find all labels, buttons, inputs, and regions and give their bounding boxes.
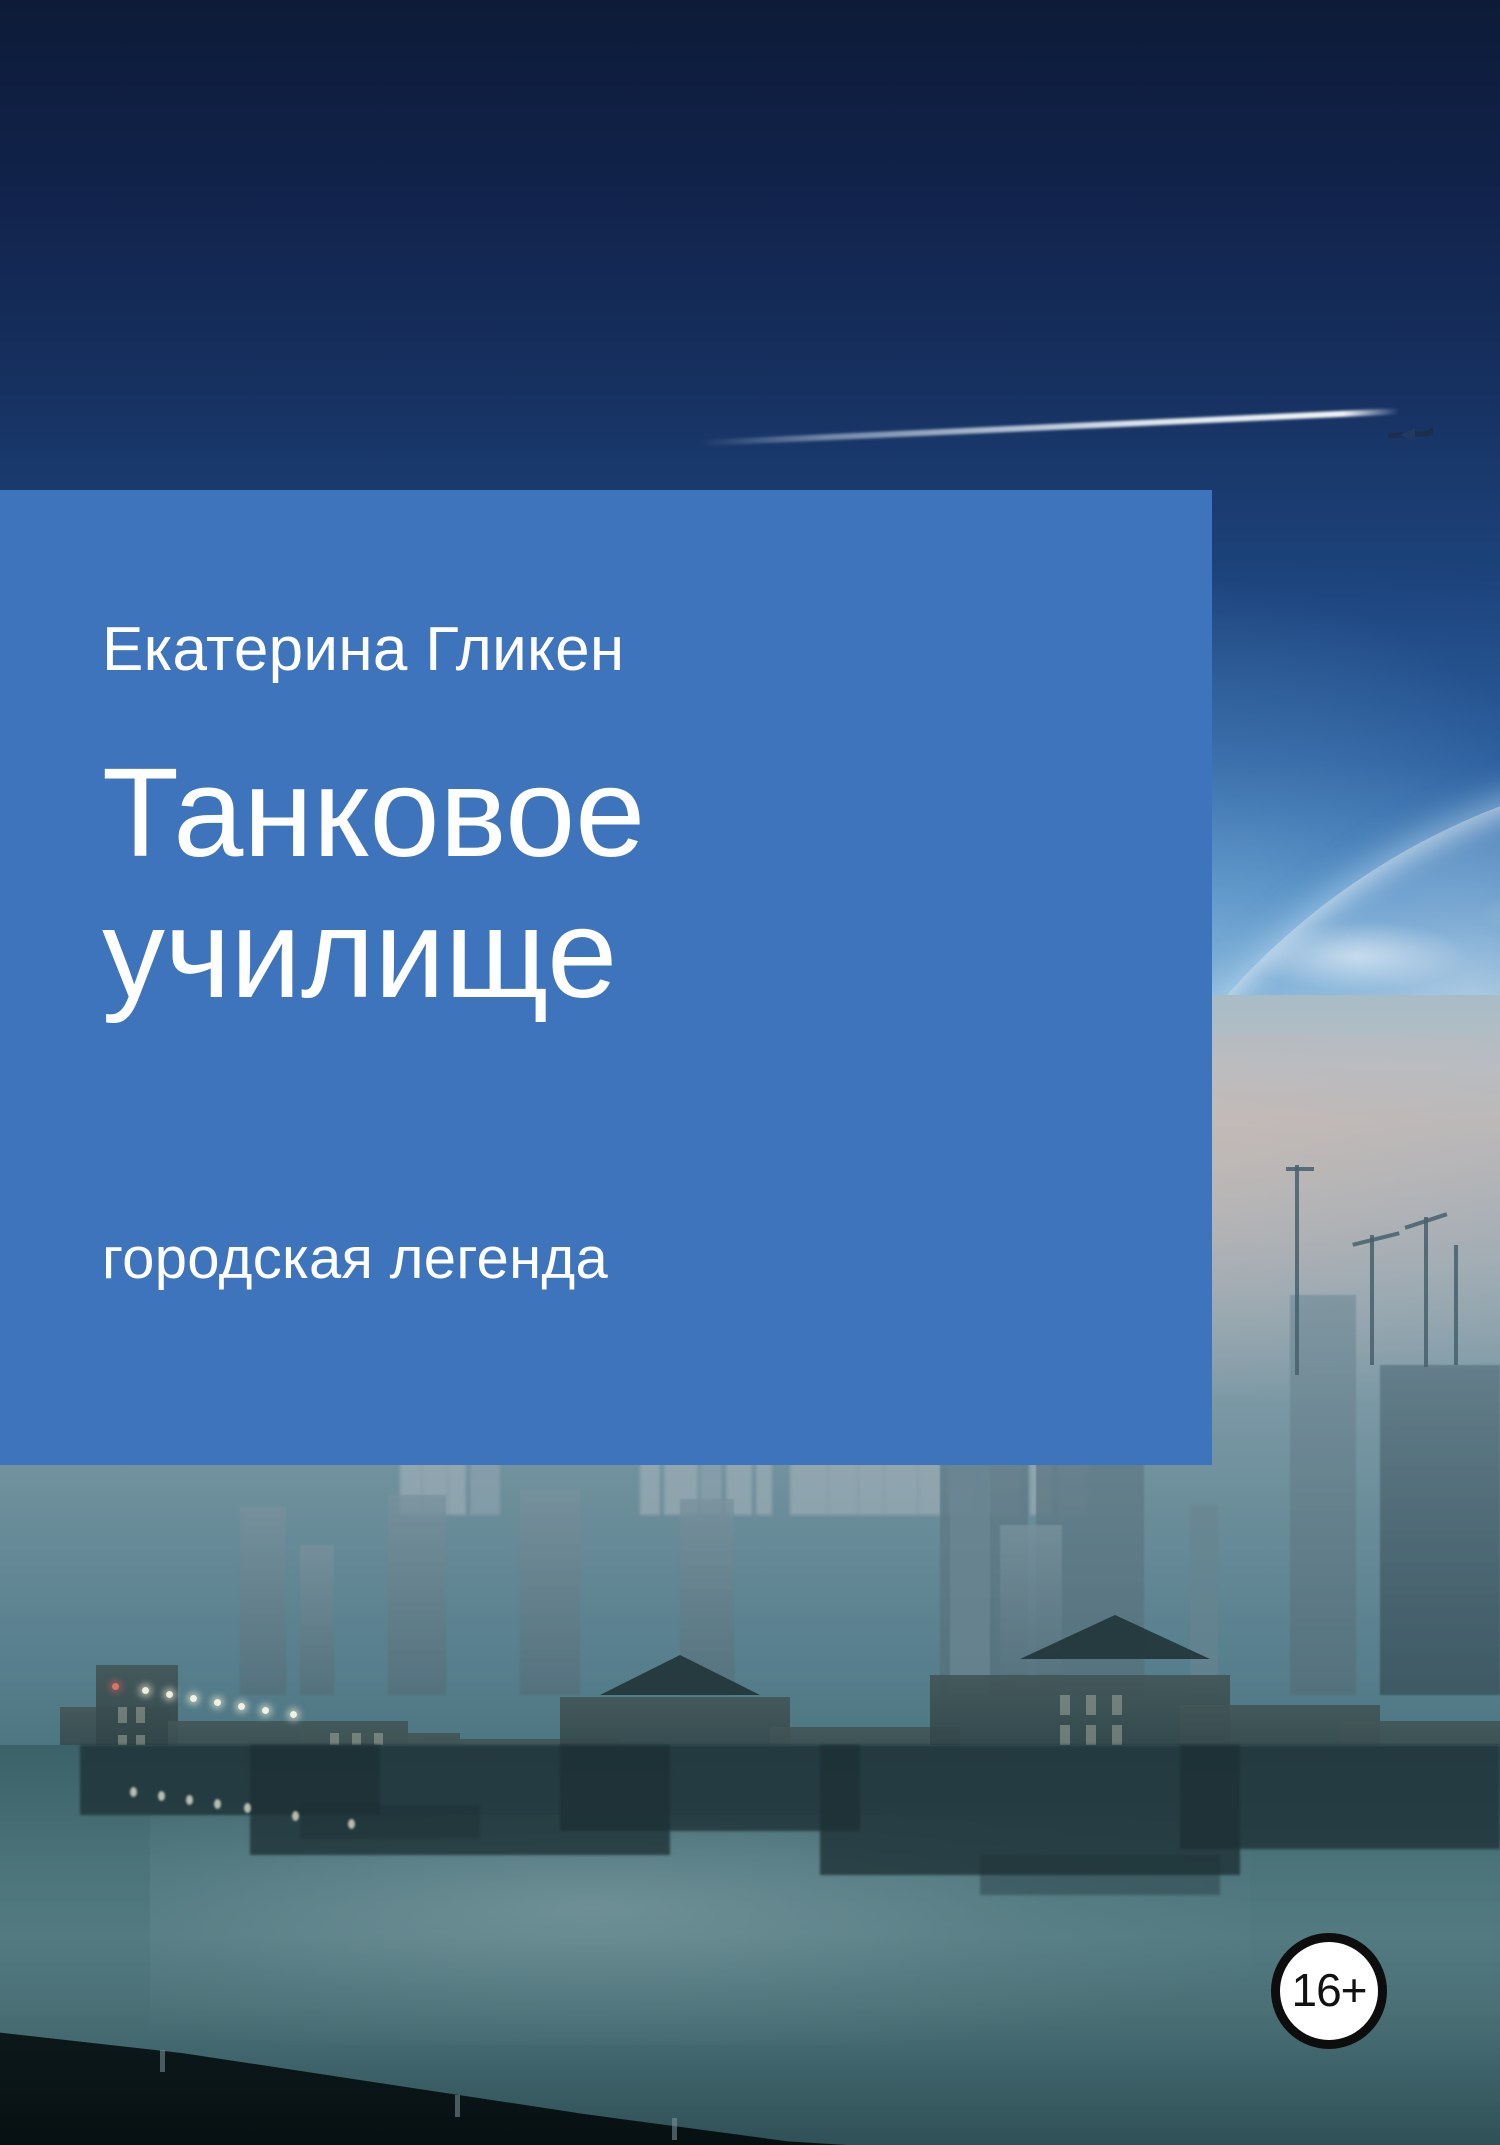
- airplane-wing: [1402, 428, 1415, 441]
- book-title: Танковое училище: [102, 742, 645, 1024]
- book-cover: Екатерина Гликен Танковое училище городс…: [0, 0, 1500, 2145]
- shore-post: [160, 2050, 165, 2072]
- shore-post: [455, 2095, 460, 2117]
- airplane-icon: [1388, 428, 1434, 441]
- title-panel: Екатерина Гликен Танковое училище городс…: [0, 490, 1212, 1465]
- title-panel-content: Екатерина Гликен Танковое училище городс…: [102, 490, 1212, 1465]
- shore-post: [672, 2118, 677, 2140]
- book-title-line-2: училище: [102, 883, 645, 1024]
- book-subtitle: городская легенда: [102, 1225, 608, 1292]
- book-title-line-1: Танковое: [102, 742, 645, 883]
- age-rating-badge: 16+: [1271, 1933, 1387, 2049]
- age-rating-label: 16+: [1291, 1967, 1366, 2013]
- author-name: Екатерина Гликен: [102, 614, 624, 685]
